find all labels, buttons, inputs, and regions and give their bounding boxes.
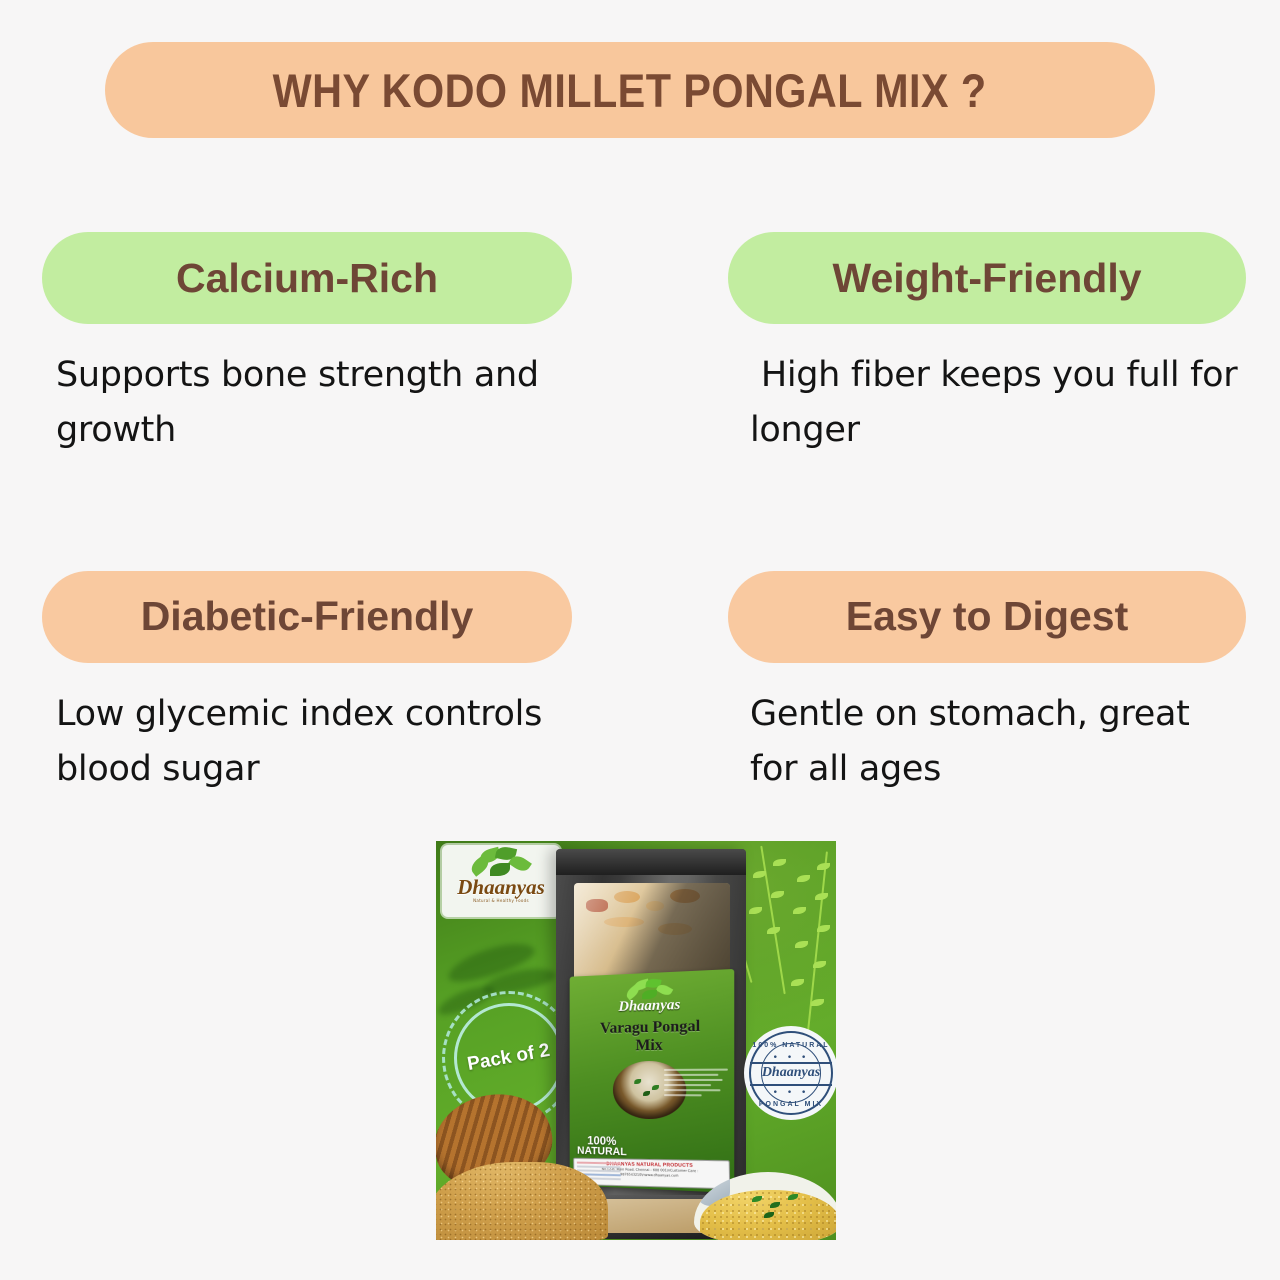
cooked-pongal-plate: [694, 1172, 836, 1240]
feature-title-easy-to-digest: Easy to Digest: [846, 593, 1129, 640]
pouch-label-brand: Dhaanyas: [599, 997, 702, 1015]
features-row-top: Calcium-Rich Supports bone strength and …: [0, 232, 1280, 459]
leaf-mark-icon: [624, 978, 676, 1000]
page-header-pill: WHY KODO MILLET PONGAL MIX ?: [105, 42, 1155, 138]
seal-arc-top-text: 100% NATURAL: [744, 1042, 836, 1049]
feature-pill-weight-friendly: Weight-Friendly: [728, 232, 1246, 324]
feature-card-easy-to-digest: Easy to Digest Gentle on stomach, great …: [640, 571, 1280, 798]
millet-grain-pile: [436, 1162, 608, 1240]
feature-pill-diabetic-friendly: Diabetic-Friendly: [42, 571, 572, 663]
feature-pill-easy-to-digest: Easy to Digest: [728, 571, 1246, 663]
seal-brand-name: Dhaanyas: [762, 1065, 820, 1081]
seal-dots-bottom: • • •: [744, 1088, 836, 1098]
feature-card-diabetic-friendly: Diabetic-Friendly Low glycemic index con…: [0, 571, 640, 798]
millet-grain-texture: [436, 1162, 608, 1240]
leaf-cluster-icon: [466, 847, 536, 879]
natural-seal-badge: 100% NATURAL • • • Dhaanyas • • • PONGAL…: [744, 1026, 836, 1120]
feature-card-weight-friendly: Weight-Friendly High fiber keeps you ful…: [640, 232, 1280, 459]
feature-description-diabetic-friendly: Low glycemic index controls blood sugar: [42, 687, 572, 798]
pouch-label-product-line2: Mix: [570, 1035, 735, 1055]
pouch-label-logo: Dhaanyas: [599, 977, 702, 1016]
feature-title-diabetic-friendly: Diabetic-Friendly: [141, 593, 474, 640]
feature-card-calcium-rich: Calcium-Rich Supports bone strength and …: [0, 232, 640, 459]
feature-description-easy-to-digest: Gentle on stomach, great for all ages: [728, 687, 1246, 798]
brand-logo: Dhaanyas Natural & Healthy Foods: [442, 845, 560, 917]
pouch-label-ingredients-list: [664, 1069, 728, 1100]
features-grid: Calcium-Rich Supports bone strength and …: [0, 232, 1280, 797]
pouch-top-seal: [556, 849, 746, 875]
seal-band-bottom: [750, 1084, 832, 1086]
features-row-bottom: Diabetic-Friendly Low glycemic index con…: [0, 571, 1280, 798]
pack-badge-label: Pack of 2: [466, 1040, 552, 1076]
brand-logo-name: Dhaanyas: [457, 877, 545, 898]
pouch-label-product-name: Varagu Pongal Mix: [570, 1017, 735, 1056]
millet-basket: [436, 1095, 608, 1240]
brand-logo-tagline: Natural & Healthy Foods: [473, 898, 529, 903]
feature-title-calcium-rich: Calcium-Rich: [176, 255, 438, 302]
feature-title-weight-friendly: Weight-Friendly: [832, 255, 1141, 302]
page-title: WHY KODO MILLET PONGAL MIX ?: [273, 63, 987, 118]
feature-description-calcium-rich: Supports bone strength and growth: [42, 348, 572, 459]
feature-description-weight-friendly: High fiber keeps you full for longer: [728, 348, 1246, 459]
feature-pill-calcium-rich: Calcium-Rich: [42, 232, 572, 324]
seal-band-top: [750, 1062, 832, 1064]
product-photo: Dhaanyas Natural & Healthy Foods Pack of…: [436, 841, 836, 1240]
seal-arc-bottom-text: PONGAL MIX: [744, 1101, 836, 1108]
